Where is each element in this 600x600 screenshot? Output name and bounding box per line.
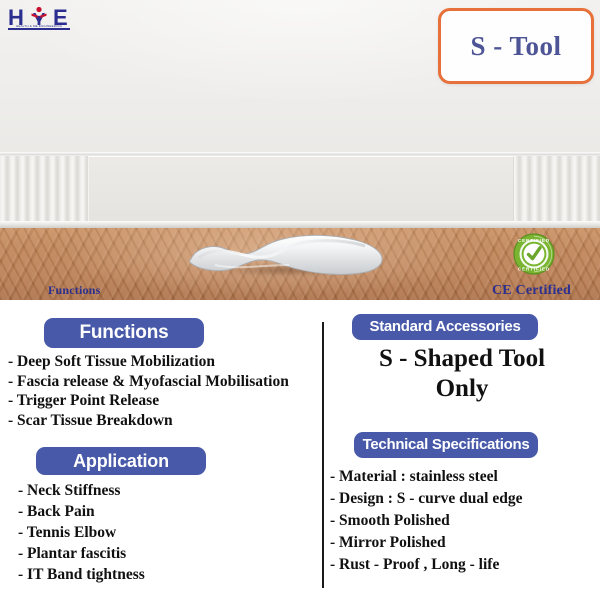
spec-content-area: Functions - Deep Soft Tissue Mobilizatio…	[0, 300, 600, 600]
wall-panel-center	[88, 156, 514, 227]
wall-baseboard	[0, 221, 600, 228]
banner-functions-label: Functions	[48, 283, 100, 298]
wall-rail-moulding	[0, 152, 600, 155]
product-photo-banner: H E HEALTH & ME ENGINEERING S - Tool CER…	[0, 0, 600, 300]
list-item: - Tennis Elbow	[18, 522, 145, 543]
banner-ce-certified-label: CE Certified	[492, 283, 571, 299]
list-item: - Smooth Polished	[330, 510, 522, 532]
s-shaped-tool-image	[185, 232, 385, 280]
product-title-box: S - Tool	[438, 8, 594, 84]
product-title: S - Tool	[470, 31, 561, 62]
standard-accessories-body: S - Shaped Tool Only	[324, 344, 600, 404]
list-item: - Deep Soft Tissue Mobilization	[8, 352, 289, 372]
standard-accessories-heading-badge: Standard Accessories	[352, 314, 538, 340]
list-item: - IT Band tightness	[18, 564, 145, 585]
functions-heading-badge: Functions	[44, 318, 204, 348]
list-item: - Scar Tissue Breakdown	[8, 411, 289, 431]
logo-tagline: HEALTH & ME ENGINEERING	[8, 24, 70, 29]
accessory-line-2: Only	[324, 374, 600, 404]
list-item: - Fascia release & Myofascial Mobilisati…	[8, 372, 289, 392]
list-item: - Neck Stiffness	[18, 480, 145, 501]
technical-specifications-heading-badge: Technical Specifications	[354, 432, 538, 458]
human-figure-icon	[32, 7, 47, 25]
application-list: - Neck Stiffness - Back Pain - Tennis El…	[18, 480, 145, 585]
technical-specifications-list: - Material : stainless steel - Design : …	[330, 466, 522, 576]
list-item: - Plantar fascitis	[18, 543, 145, 564]
application-heading-badge: Application	[36, 447, 206, 475]
wall-slats-right	[512, 156, 600, 226]
list-item: - Rust - Proof , Long - life	[330, 554, 522, 576]
svg-text:CERTIFIED: CERTIFIED	[518, 266, 550, 271]
list-item: - Mirror Polished	[330, 532, 522, 554]
list-item: - Material : stainless steel	[330, 466, 522, 488]
list-item: - Design : S - curve dual edge	[330, 488, 522, 510]
certified-seal-icon: CERTIFIED CERTIFIED	[513, 233, 555, 275]
wall-slats-left	[0, 156, 88, 226]
svg-text:CERTIFIED: CERTIFIED	[518, 238, 550, 243]
functions-list: - Deep Soft Tissue Mobilization - Fascia…	[8, 352, 289, 430]
product-spec-sheet: H E HEALTH & ME ENGINEERING S - Tool CER…	[0, 0, 600, 600]
list-item: - Trigger Point Release	[8, 391, 289, 411]
list-item: - Back Pain	[18, 501, 145, 522]
accessory-line-1: S - Shaped Tool	[324, 344, 600, 374]
